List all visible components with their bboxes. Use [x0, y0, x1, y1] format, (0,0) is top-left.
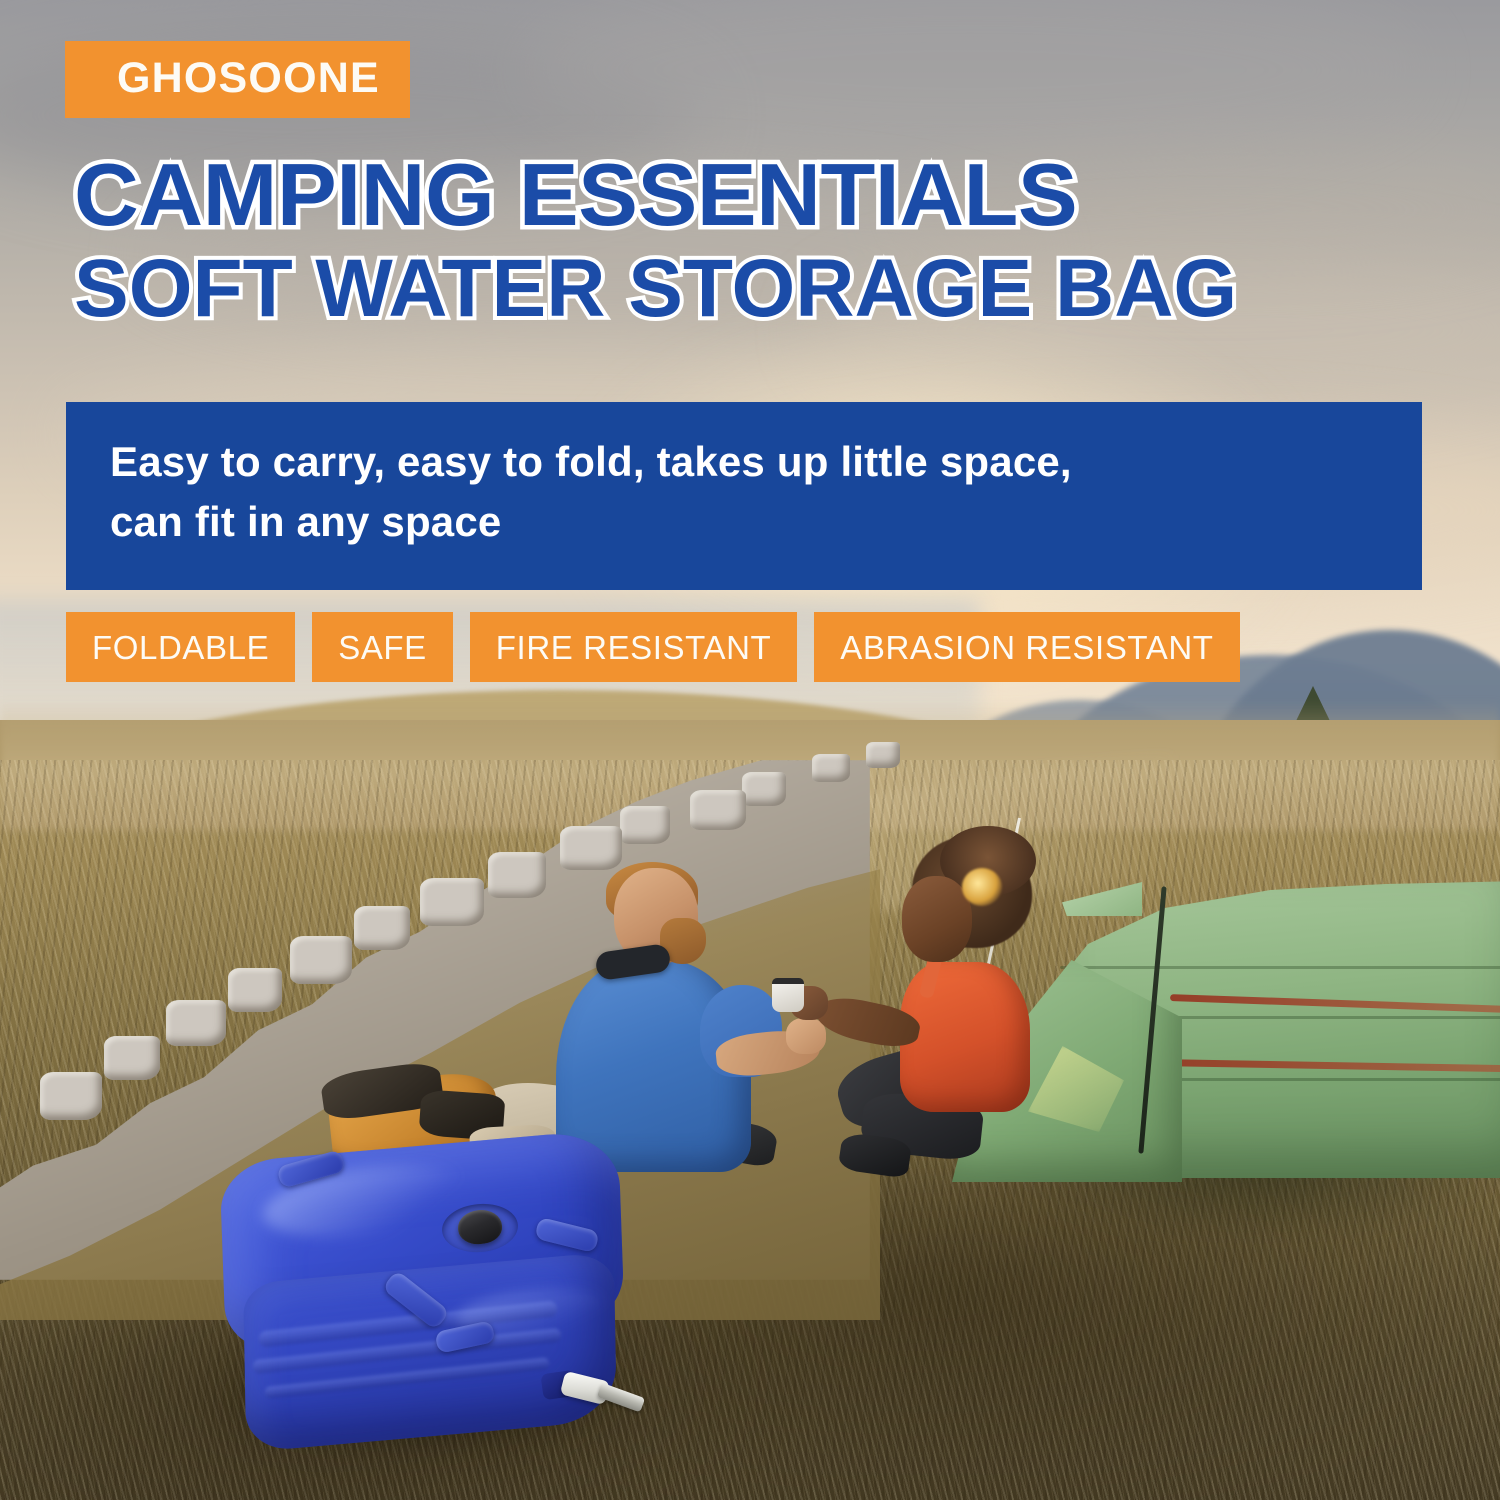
woman-tank-top: [900, 962, 1030, 1112]
rock: [812, 754, 850, 782]
man-hand: [786, 1018, 826, 1054]
rock: [166, 1000, 226, 1046]
rock: [290, 936, 352, 984]
rock: [104, 1036, 160, 1080]
rock: [866, 742, 900, 768]
feature-badge-safe: SAFE: [312, 612, 453, 682]
rock: [40, 1072, 102, 1120]
description-panel: Easy to carry, easy to fold, takes up li…: [66, 402, 1422, 590]
brand-name: GHOSOONE: [117, 57, 380, 100]
tent-seam: [1060, 966, 1500, 969]
feature-badge-label: SAFE: [338, 631, 427, 664]
feature-badge-label: ABRASION RESISTANT: [840, 631, 1213, 664]
feature-badge-abrasion-resistant: ABRASION RESISTANT: [814, 612, 1239, 682]
rock: [620, 806, 670, 844]
camp-cup: [772, 978, 804, 1012]
headline-line-2: SOFT WATER STORAGE BAG: [74, 246, 1434, 333]
feature-badge-foldable: FOLDABLE: [66, 612, 295, 682]
page-title: CAMPING ESSENTIALS SOFT WATER STORAGE BA…: [74, 150, 1434, 333]
headline-line-1: CAMPING ESSENTIALS: [74, 150, 1461, 240]
feature-badge-label: FOLDABLE: [92, 631, 269, 664]
feature-badge-fire-resistant: FIRE RESISTANT: [470, 612, 797, 682]
description-line-2: can fit in any space: [110, 492, 1382, 552]
rock: [354, 906, 410, 950]
product-marketing-poster: GHOSOONE CAMPING ESSENTIALS SOFT WATER S…: [0, 0, 1500, 1500]
description-line-1: Easy to carry, easy to fold, takes up li…: [110, 432, 1382, 492]
product-water-storage-bag: [206, 1140, 666, 1460]
rock: [420, 878, 484, 926]
feature-badge-label: FIRE RESISTANT: [496, 631, 771, 664]
rock: [488, 852, 546, 898]
brand-badge: GHOSOONE: [65, 41, 410, 118]
rock: [690, 790, 746, 830]
rock: [560, 826, 622, 870]
feature-badge-row: FOLDABLE SAFE FIRE RESISTANT ABRASION RE…: [66, 612, 1240, 682]
rock: [742, 772, 786, 806]
lens-flare: [962, 868, 1002, 906]
rock: [228, 968, 282, 1012]
